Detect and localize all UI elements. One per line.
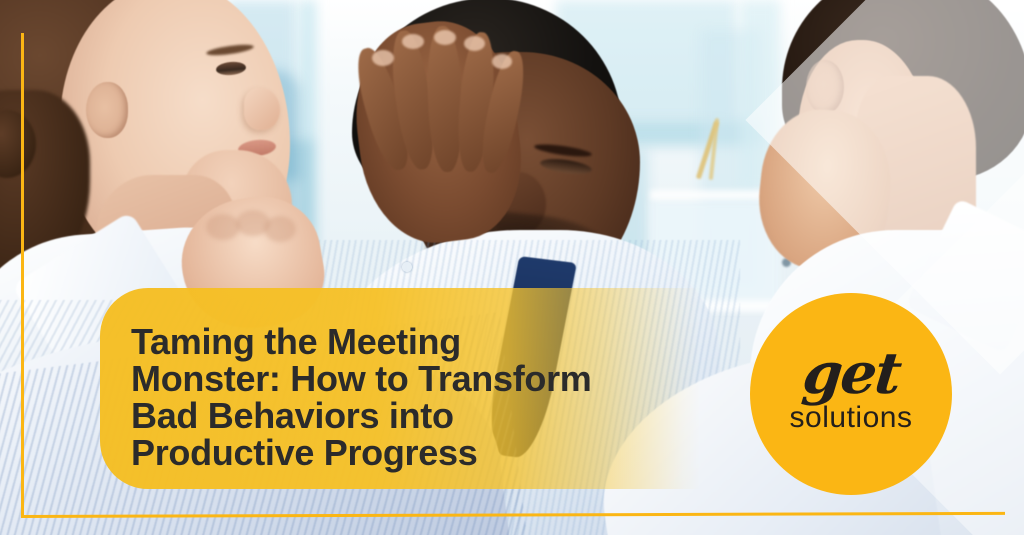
fingernail [402, 34, 424, 49]
knuckle [264, 216, 296, 242]
fingernail [434, 30, 456, 45]
fingernail [492, 54, 512, 69]
hero-banner: Taming the Meeting Monster: How to Trans… [0, 0, 1024, 535]
page-title: Taming the Meeting Monster: How to Trans… [131, 323, 731, 471]
shirt-button [402, 262, 412, 272]
fingernail [372, 50, 394, 66]
logo-badge[interactable]: get solutions [750, 293, 952, 495]
fingernail [464, 36, 485, 51]
frame-vertical-line [21, 33, 24, 518]
person-left-nose [244, 88, 280, 130]
logo-word-get: get [800, 348, 902, 400]
person-right-ear [806, 60, 844, 114]
knuckle [206, 214, 240, 240]
person-left-ear [86, 82, 128, 138]
